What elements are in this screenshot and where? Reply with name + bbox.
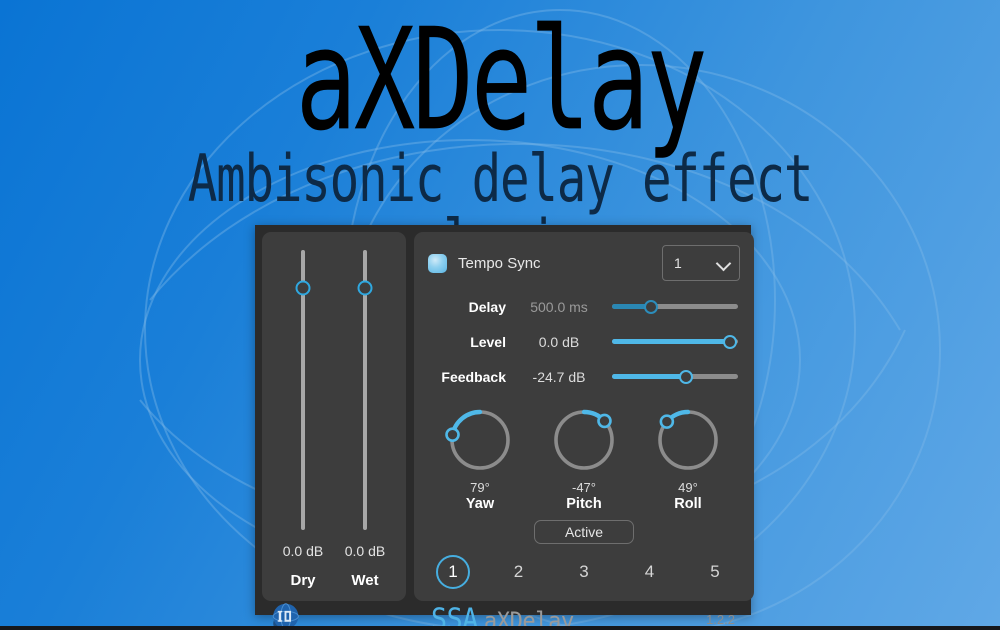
chevron-down-icon [717,259,730,267]
fader-wet-track-area[interactable] [358,250,372,530]
knob-label-yaw: Yaw [428,496,532,512]
tempo-sync-checkbox[interactable] [428,254,447,273]
fader-dry-value: 0.0 dB [283,543,323,559]
knob-label-pitch: Pitch [532,496,636,512]
param-slider-feedback-fill [612,374,686,379]
orientation-knobs: 79° Yaw -47° Pitch [428,403,740,512]
fader-dry[interactable]: 0.0 dB Dry [272,250,334,589]
fader-wet-label: Wet [351,572,378,589]
param-slider-level[interactable] [612,334,738,350]
plugin-window: 0.0 dB Dry 0.0 dB Wet [255,225,751,615]
tempo-sync-control[interactable]: Tempo Sync [428,254,541,273]
param-slider-feedback[interactable] [612,369,738,385]
fader-dry-thumb[interactable] [296,280,311,295]
knob-roll[interactable] [651,403,725,477]
preset-button-1[interactable]: 1 [434,553,472,591]
param-label-delay: Delay [428,299,516,315]
knob-cell-roll: 49° Roll [636,403,740,512]
param-slider-level-thumb[interactable] [723,335,737,349]
param-label-level: Level [428,334,516,350]
knob-label-roll: Roll [636,496,740,512]
parameter-list: Delay 500.0 ms Level 0.0 dB [428,289,740,394]
param-row-delay: Delay 500.0 ms [428,289,740,324]
preset-button-4[interactable]: 4 [631,553,669,591]
knob-value-yaw: 79° [428,480,532,495]
knob-value-pitch: -47° [532,480,636,495]
active-button-row: Active [428,520,740,544]
fader-wet[interactable]: 0.0 dB Wet [334,250,396,589]
fader-wet-value: 0.0 dB [345,543,385,559]
param-value-feedback: -24.7 dB [516,369,602,385]
preset-button-5[interactable]: 5 [696,553,734,591]
knob-value-roll: 49° [636,480,740,495]
knob-cell-yaw: 79° Yaw [428,403,532,512]
preset-button-2[interactable]: 2 [500,553,538,591]
preset-selector: 1 2 3 4 5 [428,553,740,591]
tempo-sync-row: Tempo Sync 1 [428,245,740,281]
param-slider-feedback-thumb[interactable] [679,370,693,384]
active-button[interactable]: Active [534,520,634,544]
knob-cell-pitch: -47° Pitch [532,403,636,512]
param-value-delay: 500.0 ms [516,299,602,315]
param-row-level: Level 0.0 dB [428,324,740,359]
poster-canvas: aXDelay Ambisonic delay effect plugin 0.… [0,0,1000,630]
version-label: 1.2.2 [706,612,735,627]
param-value-level: 0.0 dB [516,334,602,350]
division-dropdown[interactable]: 1 [662,245,740,281]
param-slider-delay-thumb[interactable] [644,300,658,314]
fader-dry-track-area[interactable] [296,250,310,530]
plugin-body: 0.0 dB Dry 0.0 dB Wet [255,225,751,601]
param-row-feedback: Feedback -24.7 dB [428,359,740,394]
param-slider-level-fill [612,339,730,344]
knob-pitch[interactable] [547,403,621,477]
preset-button-3[interactable]: 3 [565,553,603,591]
controls-card: Tempo Sync 1 Delay 500.0 ms [414,232,754,601]
param-label-feedback: Feedback [428,369,516,385]
fader-row: 0.0 dB Dry 0.0 dB Wet [272,250,396,589]
tempo-sync-label: Tempo Sync [458,255,541,272]
fader-wet-thumb[interactable] [358,280,373,295]
fader-dry-label: Dry [290,572,315,589]
knob-yaw[interactable] [443,403,517,477]
bottom-edge-strip [0,626,1000,630]
division-dropdown-value: 1 [674,255,682,271]
dry-wet-fader-card: 0.0 dB Dry 0.0 dB Wet [262,232,406,601]
param-slider-delay[interactable] [612,299,738,315]
